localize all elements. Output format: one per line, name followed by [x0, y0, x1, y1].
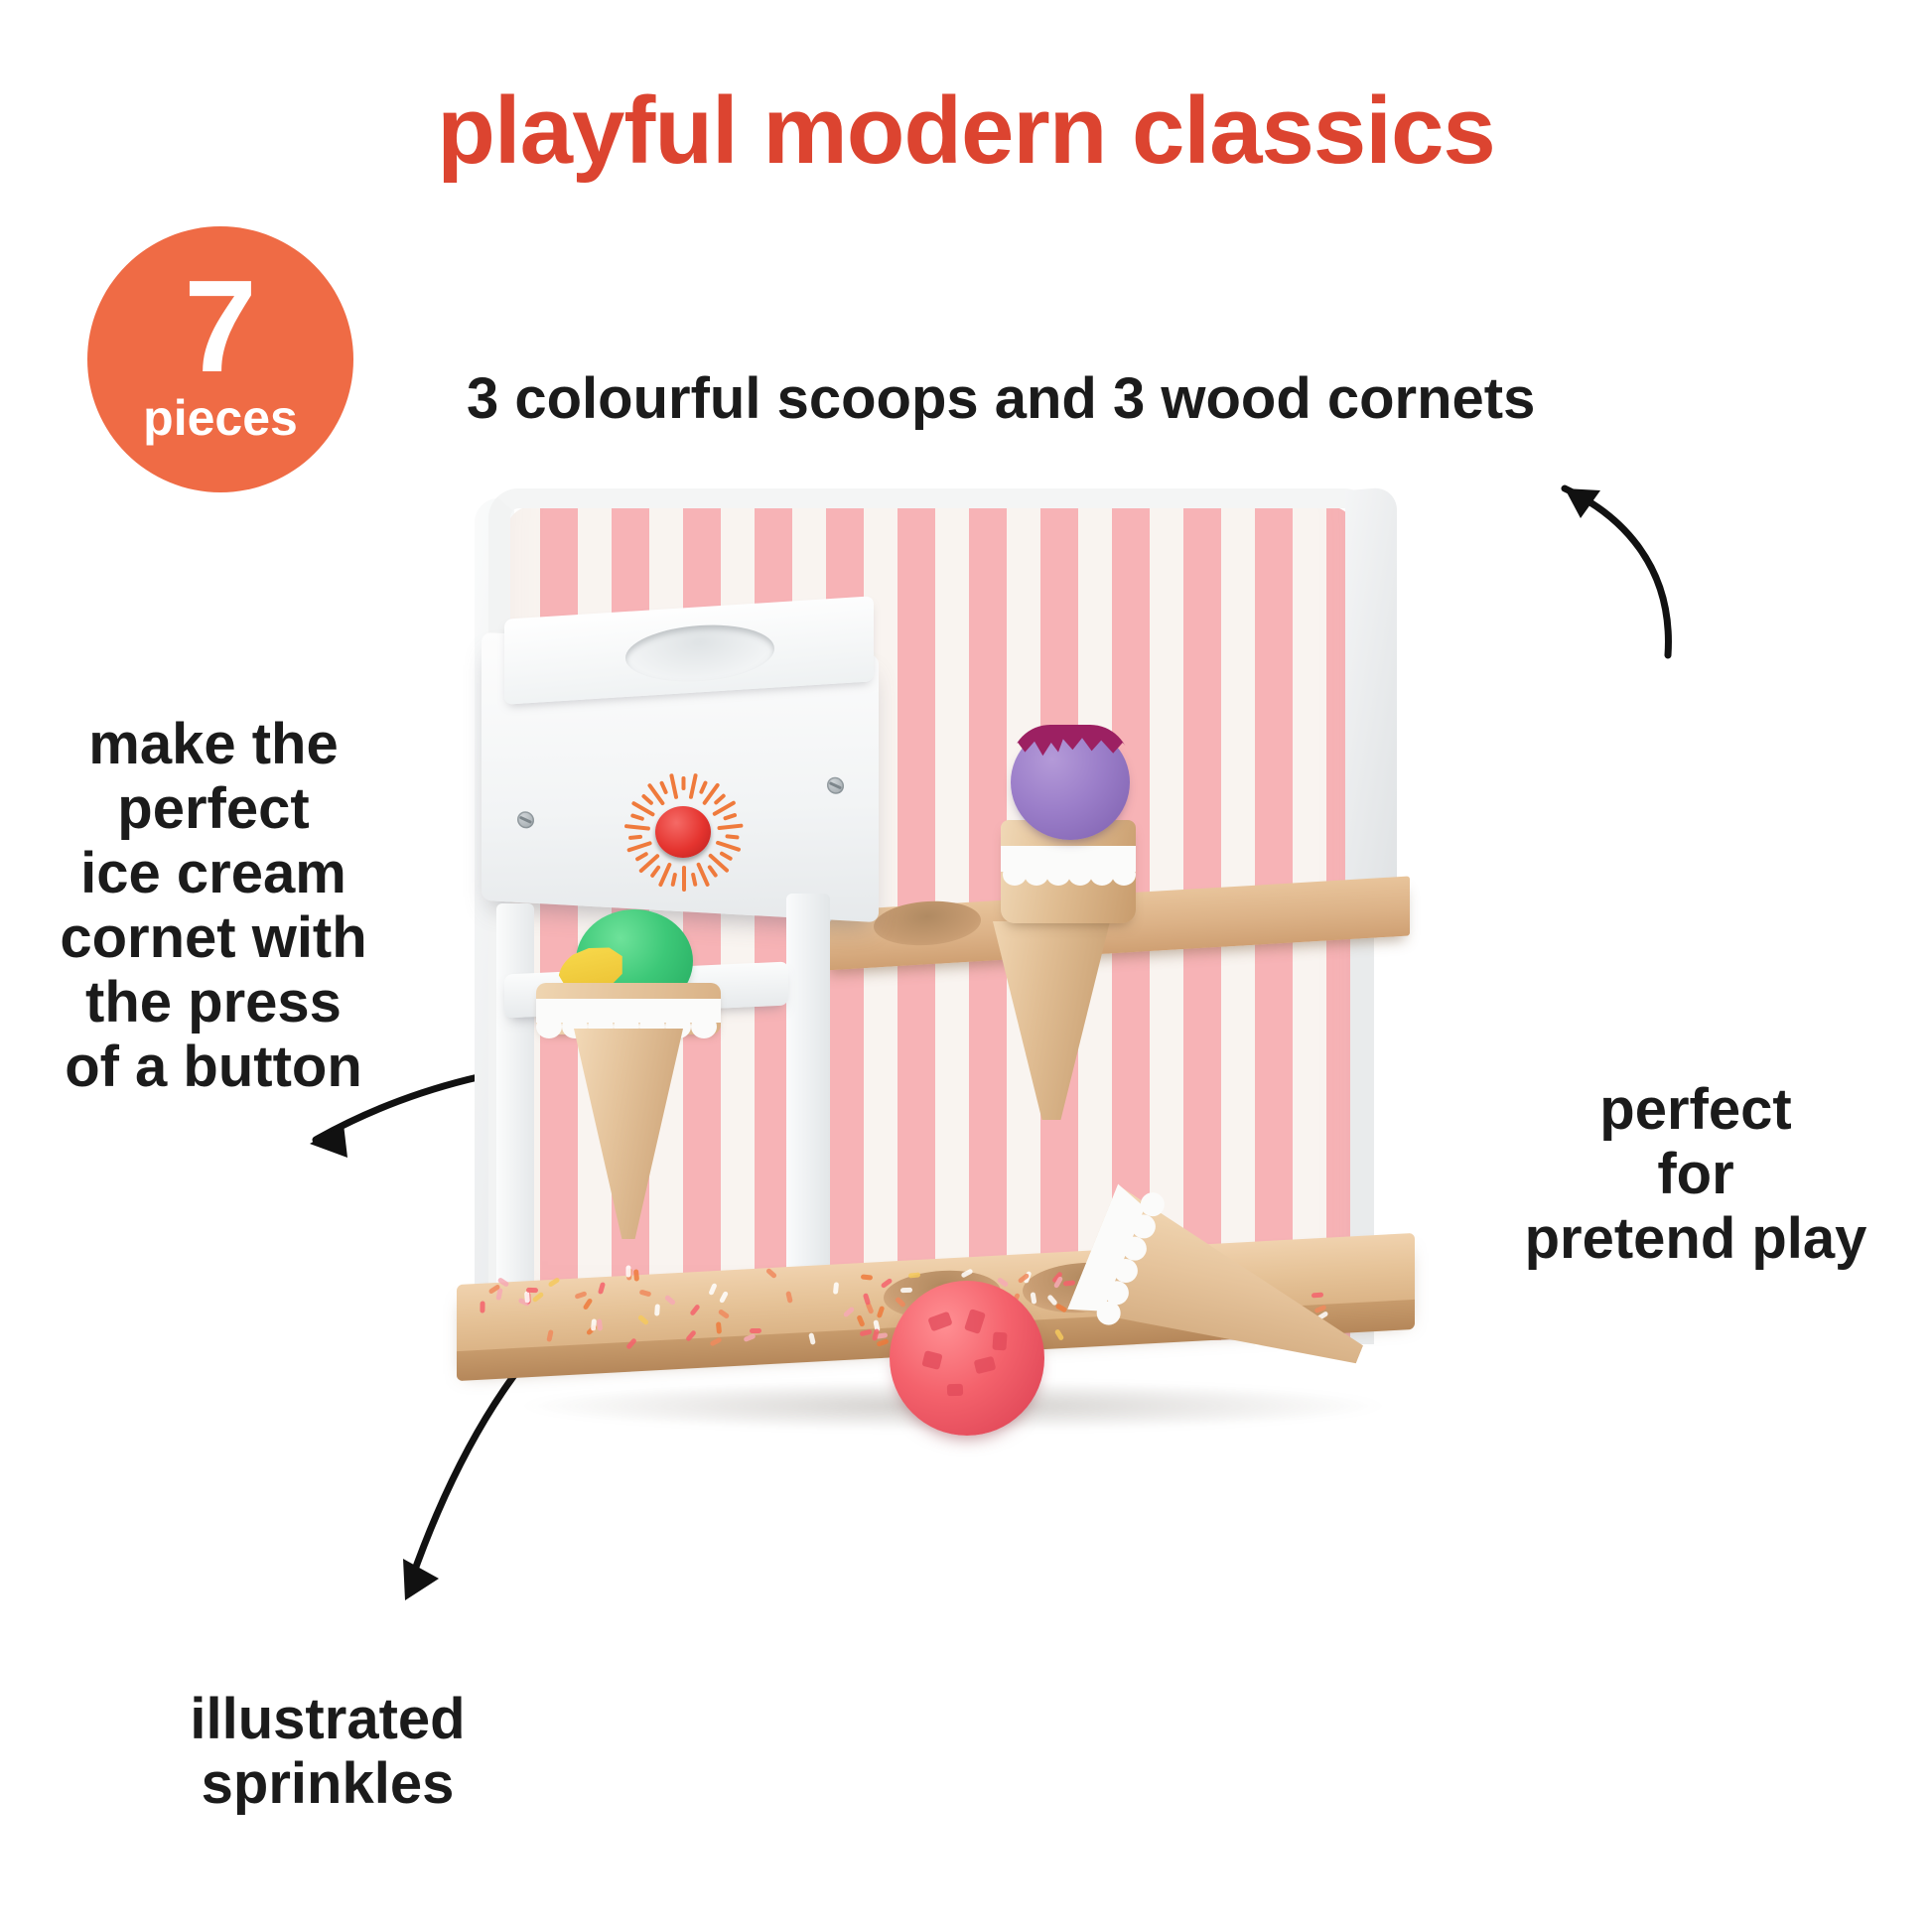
purple-scoop-cornet	[993, 725, 1144, 923]
screw-right-icon	[827, 776, 844, 794]
button-ray	[716, 841, 742, 852]
caption-scoops-and-cornets: 3 colourful scoops and 3 wood cornets	[467, 367, 1529, 432]
pink-scoop-ball	[890, 1281, 1044, 1436]
button-ray	[707, 865, 718, 878]
button-ray	[628, 835, 642, 840]
button-ray	[714, 793, 727, 805]
sprinkle	[900, 1287, 912, 1292]
caption-line: sprinkles	[119, 1752, 536, 1817]
sprinkle	[861, 1274, 874, 1280]
ball-paint-fleck	[992, 1332, 1007, 1351]
caption-line: for	[1487, 1143, 1904, 1207]
caption-line: pretend play	[1487, 1207, 1904, 1272]
button-ray	[699, 780, 708, 794]
caption-line: illustrated	[119, 1688, 536, 1752]
screw-left-icon	[517, 811, 534, 829]
button-ray	[649, 865, 660, 878]
product-photo	[397, 427, 1509, 1579]
button-ray	[723, 813, 737, 821]
button-ray	[630, 813, 644, 821]
button-ray	[682, 776, 686, 790]
cornet-scallop-trim	[1001, 864, 1136, 884]
cabinet-inner-post-middle	[786, 894, 830, 1320]
red-press-button[interactable]	[655, 806, 711, 858]
sprinkle	[1063, 1280, 1075, 1286]
caption-line: ice cream	[40, 842, 387, 906]
sprinkle	[654, 1305, 660, 1316]
button-ray	[719, 851, 733, 861]
ball-paint-fleck	[921, 1350, 942, 1370]
button-ray	[634, 851, 648, 861]
button-ray	[659, 780, 668, 794]
button-ray	[717, 824, 743, 830]
press-button-assembly[interactable]	[614, 762, 753, 901]
pieces-count-label: pieces	[143, 393, 298, 443]
page-title: playful modern classics	[0, 81, 1932, 182]
caption-illustrated-sprinkles: illustrated sprinkles	[119, 1688, 536, 1817]
ball-paint-fleck	[927, 1311, 952, 1332]
cabinet-right-side-panel	[1345, 486, 1397, 918]
sprinkle	[526, 1288, 538, 1294]
sprinkle	[524, 1291, 530, 1304]
caption-line: perfect	[1487, 1078, 1904, 1143]
caption-line: perfect	[40, 777, 387, 842]
caption-line: make the	[40, 713, 387, 777]
green-scoop-cornet	[536, 909, 721, 1237]
ball-paint-fleck	[964, 1309, 986, 1334]
button-ray	[641, 793, 654, 805]
button-ray	[670, 873, 676, 887]
cabinet-inner-post-left	[496, 903, 534, 1320]
pieces-count-number: 7	[184, 266, 256, 386]
ball-paint-fleck	[974, 1356, 997, 1374]
ball-paint-fleck	[947, 1384, 963, 1397]
sprinkle	[716, 1321, 722, 1334]
button-ray	[624, 824, 650, 830]
sprinkle	[908, 1272, 920, 1278]
sprinkle	[750, 1328, 761, 1333]
caption-line: cornet with	[40, 906, 387, 971]
button-ray	[682, 866, 686, 892]
caption-pretend-play: perfect for pretend play	[1487, 1078, 1904, 1272]
caption-line: 3 colourful scoops and 3 wood cornets	[467, 367, 1529, 432]
sprinkle	[625, 1266, 630, 1278]
sprinkle	[481, 1301, 485, 1312]
button-ray	[725, 835, 739, 840]
pieces-count-badge: 7 pieces	[87, 226, 353, 492]
button-ray	[689, 773, 698, 799]
cornet-horn	[574, 1029, 683, 1239]
button-ray	[670, 773, 679, 799]
button-ray	[691, 873, 697, 887]
infographic-canvas: playful modern classics 7 pieces 3 colou…	[0, 0, 1932, 1932]
button-ray	[626, 841, 652, 852]
